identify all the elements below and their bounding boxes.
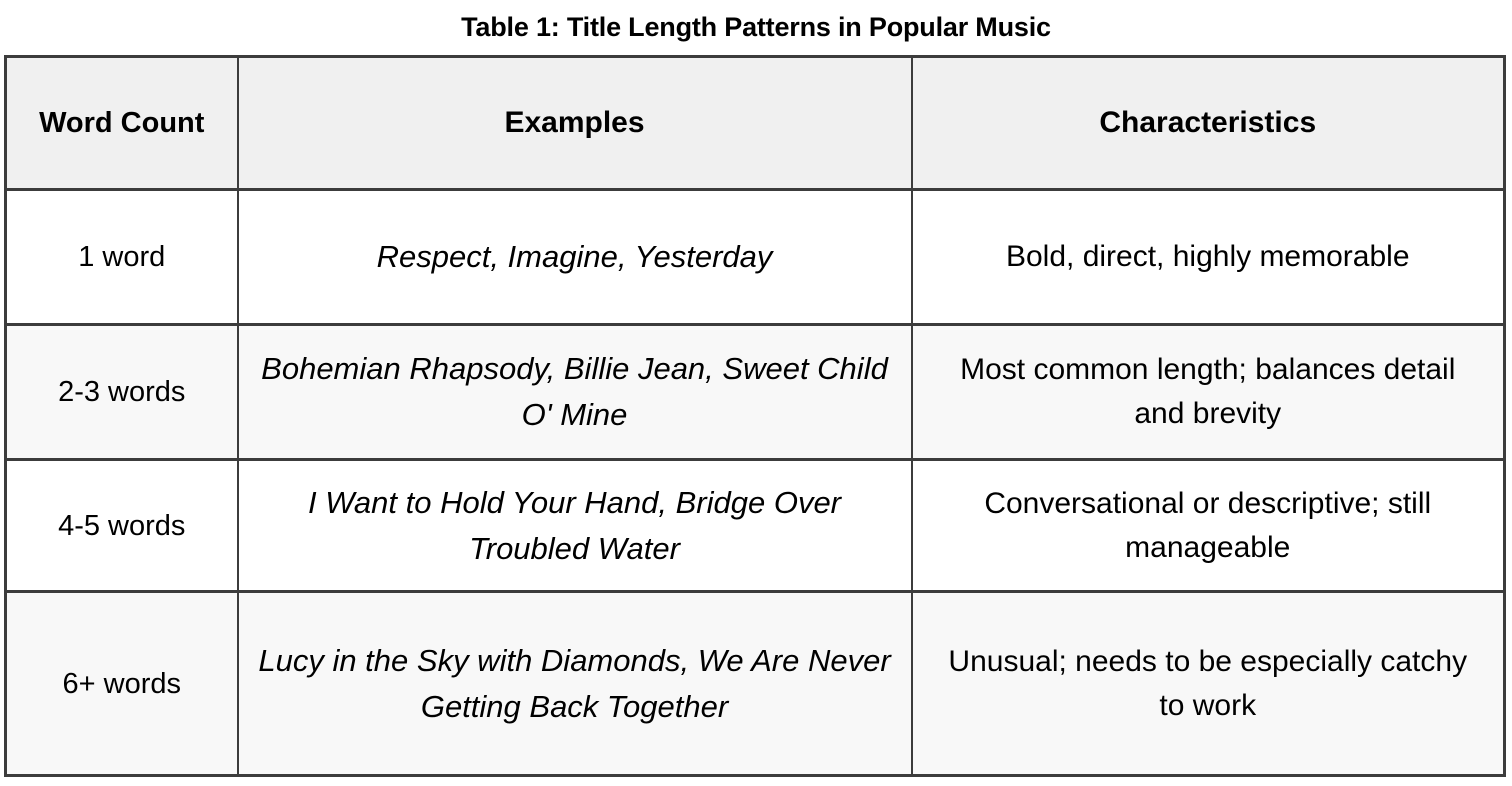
cell-characteristics: Most common length; balances detail and … [912,325,1505,460]
cell-characteristics: Conversational or descriptive; still man… [912,460,1505,592]
column-header-examples: Examples [238,57,912,190]
table-header-row: Word Count Examples Characteristics [6,57,1505,190]
cell-word-count: 1 word [6,190,238,325]
table-row: 1 word Respect, Imagine, Yesterday Bold,… [6,190,1505,325]
cell-characteristics: Unusual; needs to be especially catchy t… [912,592,1505,776]
cell-word-count: 2-3 words [6,325,238,460]
cell-examples: Lucy in the Sky with Diamonds, We Are Ne… [238,592,912,776]
cell-word-count: 4-5 words [6,460,238,592]
table-row: 2-3 words Bohemian Rhapsody, Billie Jean… [6,325,1505,460]
cell-examples: Respect, Imagine, Yesterday [238,190,912,325]
column-header-word-count: Word Count [6,57,238,190]
table-header: Word Count Examples Characteristics [6,57,1505,190]
table-figure: Table 1: Title Length Patterns in Popula… [0,0,1512,786]
page-title: Table 1: Title Length Patterns in Popula… [0,10,1512,44]
table-row: 6+ words Lucy in the Sky with Diamonds, … [6,592,1505,776]
table-body: 1 word Respect, Imagine, Yesterday Bold,… [6,190,1505,776]
cell-examples: I Want to Hold Your Hand, Bridge Over Tr… [238,460,912,592]
table-container: Word Count Examples Characteristics 1 wo… [4,55,1506,777]
table-row: 4-5 words I Want to Hold Your Hand, Brid… [6,460,1505,592]
column-header-characteristics: Characteristics [912,57,1505,190]
title-length-patterns-table: Word Count Examples Characteristics 1 wo… [4,55,1506,777]
cell-word-count: 6+ words [6,592,238,776]
cell-characteristics: Bold, direct, highly memorable [912,190,1505,325]
cell-examples: Bohemian Rhapsody, Billie Jean, Sweet Ch… [238,325,912,460]
